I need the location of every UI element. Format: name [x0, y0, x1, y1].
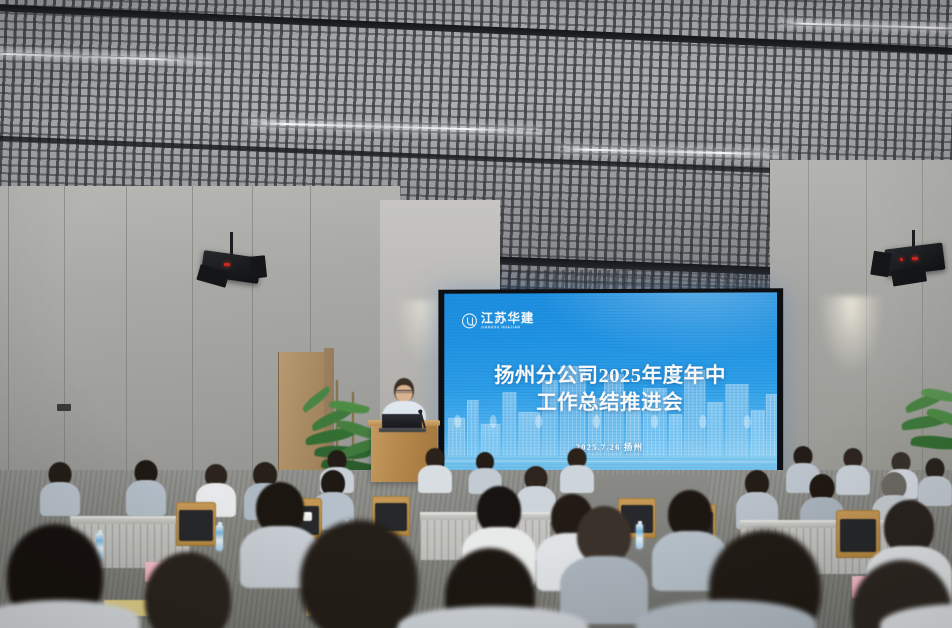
attendee-torso	[126, 480, 166, 516]
wall-wash-light-right	[812, 296, 890, 446]
chair[interactable]	[176, 502, 216, 546]
company-logo: 江苏华建 JIANGSU HUAJIAN	[462, 312, 534, 330]
slide-title-line-1: 扬州分公司2025年度年中	[444, 363, 777, 390]
attendee	[418, 448, 452, 490]
slide-title: 扬州分公司2025年度年中 工作总结推进会	[444, 363, 777, 417]
attendee-torso	[40, 482, 80, 516]
attendee-torso	[560, 556, 648, 624]
attendee-torso	[560, 465, 594, 493]
attendee	[40, 462, 80, 514]
attendee-foreground	[128, 552, 248, 628]
light-barn-door	[870, 251, 892, 278]
light-indicator-led	[912, 257, 918, 260]
light-indicator-led	[224, 263, 230, 266]
logo-company-name-cn: 江苏华建	[481, 312, 535, 325]
attendee-foreground	[284, 520, 434, 628]
light-mount-rod	[230, 232, 233, 256]
presenter-glasses	[396, 390, 412, 393]
attendee	[560, 448, 594, 490]
conference-hall-scene: 江苏华建 JIANGSU HUAJIAN 扬州分公司2025年度年中 工作总结推…	[0, 0, 952, 628]
water-bottle	[216, 525, 223, 551]
light-barn-door	[249, 255, 267, 279]
laptop-base	[379, 428, 426, 432]
attendee	[918, 458, 952, 504]
attendee	[560, 506, 648, 618]
chair-cushion	[179, 510, 213, 541]
attendee	[126, 460, 166, 514]
palm-frond	[300, 386, 333, 413]
slide-title-line-2: 工作总结推进会	[444, 390, 777, 417]
presenter-face	[396, 385, 413, 402]
jiangsu-huajian-emblem-icon	[462, 314, 477, 329]
light-indicator-led	[900, 258, 903, 261]
attendee-head	[300, 520, 418, 628]
logo-text-block: 江苏华建 JIANGSU HUAJIAN	[481, 312, 535, 329]
attendee-head	[145, 552, 231, 628]
logo-company-name-en: JIANGSU HUAJIAN	[481, 326, 535, 330]
exit-sign	[57, 404, 71, 411]
palm-frond	[910, 433, 952, 453]
attendee-torso	[418, 465, 452, 493]
laptop-screen	[382, 414, 422, 429]
